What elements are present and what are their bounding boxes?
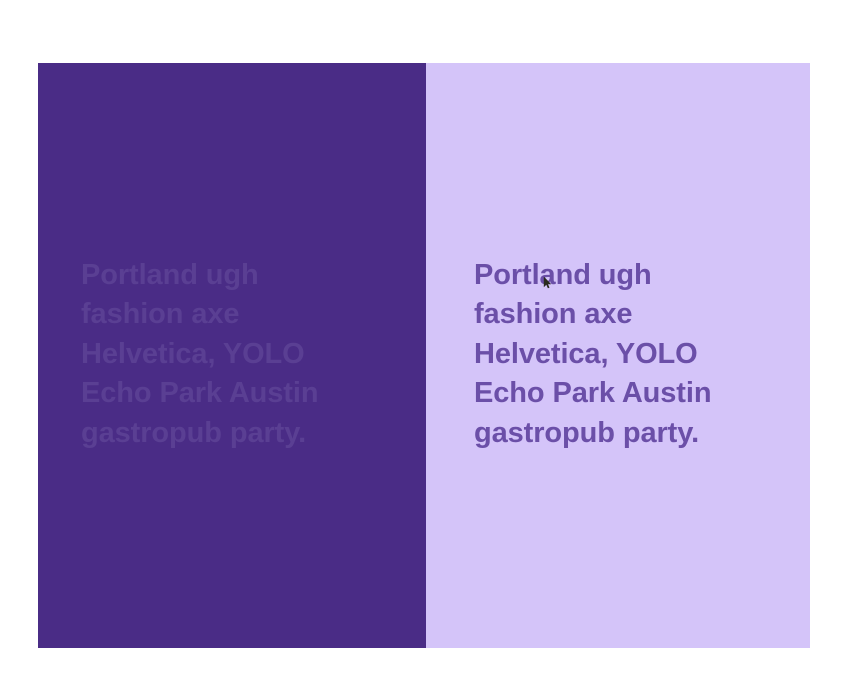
low-contrast-sample-text: Portland ugh fashion axe Helvetica, YOLO… [81,256,386,454]
low-contrast-panel: Portland ugh fashion axe Helvetica, YOLO… [38,63,426,648]
high-contrast-sample-text: Portland ugh fashion axe Helvetica, YOLO… [474,256,770,454]
high-contrast-panel: Portland ugh fashion axe Helvetica, YOLO… [426,63,810,648]
contrast-comparison-container: Portland ugh fashion axe Helvetica, YOLO… [38,63,810,648]
